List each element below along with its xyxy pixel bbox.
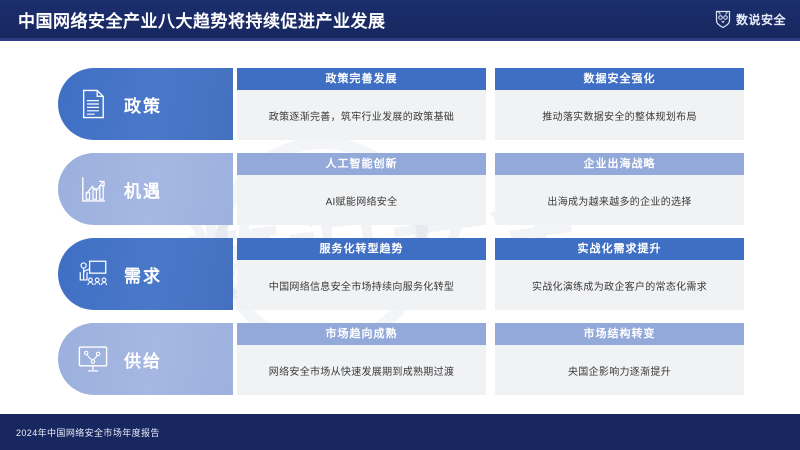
trend-cards: 服务化转型趋势 中国网络信息安全市场持续向服务化转型 实战化需求提升 实战化演练…: [237, 238, 744, 310]
trend-card-title: 市场结构转变: [495, 323, 744, 345]
page-footer: 2024年中国网络安全市场年度报告: [0, 414, 800, 450]
trend-card[interactable]: 企业出海战略 出海成为越来越多的企业的选择: [495, 153, 744, 225]
header-divider: [0, 38, 800, 41]
trend-board: 政策 政策完善发展 政策逐渐完善，筑牢行业发展的政策基础 数据安全强化 推动落实…: [0, 42, 800, 414]
trend-card-title: 人工智能创新: [237, 153, 486, 175]
trend-card[interactable]: 市场趋向成熟 网络安全市场从快速发展期到成熟期过渡: [237, 323, 486, 395]
trend-row: 供给 市场趋向成熟 网络安全市场从快速发展期到成熟期过渡 市场结构转变 央国企影…: [58, 323, 744, 395]
trend-card[interactable]: 政策完善发展 政策逐渐完善，筑牢行业发展的政策基础: [237, 68, 486, 140]
trend-row: 机遇 人工智能创新 AI赋能网络安全 企业出海战略 出海成为越来越多的企业的选择: [58, 153, 744, 225]
trend-card-desc: AI赋能网络安全: [237, 175, 486, 225]
monitor-network-icon: [76, 342, 110, 376]
category-pill-demand[interactable]: 需求: [58, 238, 233, 310]
trend-card-title: 数据安全强化: [495, 68, 744, 90]
trend-card[interactable]: 人工智能创新 AI赋能网络安全: [237, 153, 486, 225]
trend-row: 需求 服务化转型趋势 中国网络信息安全市场持续向服务化转型 实战化需求提升 实战…: [58, 238, 744, 310]
document-icon: [76, 87, 110, 121]
trend-card[interactable]: 实战化需求提升 实战化演练成为政企客户的常态化需求: [495, 238, 744, 310]
trend-card-title: 实战化需求提升: [495, 238, 744, 260]
category-label: 政策: [124, 92, 162, 117]
brand-logo: 数说安全: [715, 10, 786, 28]
trend-card-title: 企业出海战略: [495, 153, 744, 175]
trend-cards: 市场趋向成熟 网络安全市场从快速发展期到成熟期过渡 市场结构转变 央国企影响力逐…: [237, 323, 744, 395]
category-label: 需求: [124, 262, 162, 287]
trend-card[interactable]: 服务化转型趋势 中国网络信息安全市场持续向服务化转型: [237, 238, 486, 310]
trend-card[interactable]: 数据安全强化 推动落实数据安全的整体规划布局: [495, 68, 744, 140]
category-pill-policy[interactable]: 政策: [58, 68, 233, 140]
owl-shield-icon: [715, 10, 731, 28]
trend-card-desc: 央国企影响力逐渐提升: [495, 345, 744, 395]
bar-chart-growth-icon: [76, 172, 110, 206]
trend-card-desc: 实战化演练成为政企客户的常态化需求: [495, 260, 744, 310]
trend-card-desc: 出海成为越来越多的企业的选择: [495, 175, 744, 225]
brand-name: 数说安全: [736, 11, 786, 28]
category-pill-opportunity[interactable]: 机遇: [58, 153, 233, 225]
category-label: 机遇: [124, 177, 162, 202]
trend-card-desc: 推动落实数据安全的整体规划布局: [495, 90, 744, 140]
trend-cards: 政策完善发展 政策逐渐完善，筑牢行业发展的政策基础 数据安全强化 推动落实数据安…: [237, 68, 744, 140]
trend-card-title: 政策完善发展: [237, 68, 486, 90]
footer-text: 2024年中国网络安全市场年度报告: [16, 426, 160, 439]
page-title: 中国网络安全产业八大趋势将持续促进产业发展: [18, 7, 386, 32]
presenter-whiteboard-icon: [76, 257, 110, 291]
trend-row: 政策 政策完善发展 政策逐渐完善，筑牢行业发展的政策基础 数据安全强化 推动落实…: [58, 68, 744, 140]
category-pill-supply[interactable]: 供给: [58, 323, 233, 395]
trend-card-desc: 中国网络信息安全市场持续向服务化转型: [237, 260, 486, 310]
trend-card[interactable]: 市场结构转变 央国企影响力逐渐提升: [495, 323, 744, 395]
category-label: 供给: [124, 347, 162, 372]
trend-card-title: 服务化转型趋势: [237, 238, 486, 260]
trend-cards: 人工智能创新 AI赋能网络安全 企业出海战略 出海成为越来越多的企业的选择: [237, 153, 744, 225]
page-header: 中国网络安全产业八大趋势将持续促进产业发展 数说安全: [0, 0, 800, 38]
trend-card-desc: 网络安全市场从快速发展期到成熟期过渡: [237, 345, 486, 395]
trend-card-desc: 政策逐渐完善，筑牢行业发展的政策基础: [237, 90, 486, 140]
trend-card-title: 市场趋向成熟: [237, 323, 486, 345]
